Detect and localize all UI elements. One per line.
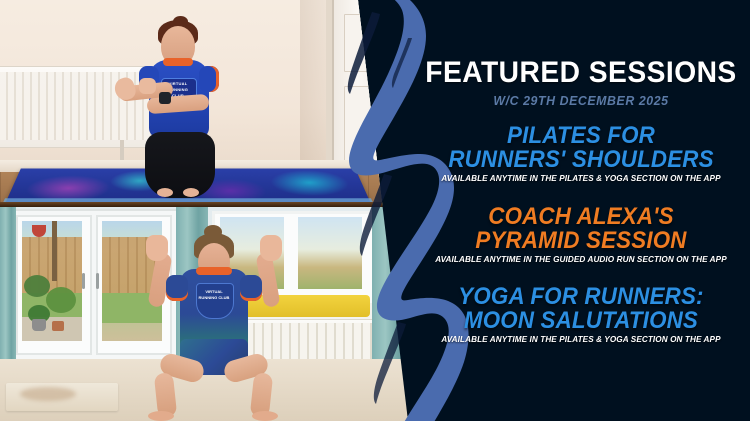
door-glass-left xyxy=(22,221,82,341)
hanging-basket xyxy=(32,225,46,237)
hand-open-right xyxy=(260,235,282,261)
door-handle-right[interactable] xyxy=(96,273,99,289)
session-3-title: YOGA FOR RUNNERS: MOON SALUTATIONS xyxy=(424,285,738,333)
session-1-subtitle: AVAILABLE ANYTIME IN THE PILATES & YOGA … xyxy=(419,173,743,183)
session-1-title-line1: PILATES FOR xyxy=(424,124,738,148)
session-2-title-line2: PYRAMID SESSION xyxy=(424,229,738,253)
session-3-subtitle: AVAILABLE ANYTIME IN THE PILATES & YOGA … xyxy=(419,334,743,344)
foot-left xyxy=(148,411,174,421)
photo-collage: VIRTUAL RUNNING CLUB xyxy=(0,0,410,421)
radiator-pipe xyxy=(120,140,124,162)
curtain-left xyxy=(0,207,16,367)
door-panel-lower xyxy=(344,86,390,168)
sleeve-right xyxy=(240,275,262,301)
session-2-subtitle: AVAILABLE ANYTIME IN THE GUIDED AUDIO RU… xyxy=(419,254,743,264)
hand-open-left xyxy=(146,235,168,261)
sleeve-right xyxy=(199,66,219,92)
shirt-collar xyxy=(196,267,232,275)
garden-shrub xyxy=(24,275,50,297)
door-handle-left[interactable] xyxy=(82,273,85,289)
photo-bottom-goddess-squat: VIRTUAL RUNNING CLUB xyxy=(0,207,410,421)
door-panel-upper xyxy=(344,14,390,72)
session-2-title: COACH ALEXA'S PYRAMID SESSION xyxy=(424,205,738,253)
window-pane-right xyxy=(298,217,362,289)
door-mat-pattern xyxy=(20,387,76,401)
page-title: FEATURED SESSIONS xyxy=(422,58,740,88)
featured-sessions-poster: VIRTUAL RUNNING CLUB xyxy=(0,0,750,421)
curtain-right xyxy=(372,207,410,367)
session-item-3[interactable]: YOGA FOR RUNNERS: MOON SALUTATIONS AVAIL… xyxy=(412,285,750,344)
session-1-title-line2: RUNNERS' SHOULDERS xyxy=(424,148,738,172)
instructor-figure-bottom: VIRTUAL RUNNING CLUB xyxy=(140,221,290,421)
shirt-collar xyxy=(163,58,193,66)
foot-right xyxy=(252,411,278,421)
session-item-1[interactable]: PILATES FOR RUNNERS' SHOULDERS AVAILABLE… xyxy=(412,124,750,183)
legs-kneeling xyxy=(145,132,215,198)
foot-right xyxy=(183,188,199,197)
foot-left xyxy=(157,188,173,197)
garden-shrub xyxy=(46,287,76,313)
plant-pot xyxy=(32,319,46,331)
fist-right xyxy=(139,78,156,94)
wrist-watch xyxy=(159,92,171,104)
session-3-title-line1: YOGA FOR RUNNERS: xyxy=(424,285,738,309)
session-item-2[interactable]: COACH ALEXA'S PYRAMID SESSION AVAILABLE … xyxy=(412,205,750,264)
week-commencing-date: W/C 29TH DECEMBER 2025 xyxy=(420,93,741,108)
sleeve-left xyxy=(166,275,188,301)
instructor-figure-top: VIRTUAL RUNNING CLUB xyxy=(125,20,235,190)
brush-stroke-texture-4 xyxy=(392,38,412,88)
text-panel: FEATURED SESSIONS W/C 29TH DECEMBER 2025… xyxy=(412,0,750,421)
session-3-title-line2: MOON SALUTATIONS xyxy=(424,309,738,333)
shirt-logo-text: VIRTUAL RUNNING CLUB xyxy=(197,289,231,301)
photo-top-pilates-shoulder-stretch: VIRTUAL RUNNING CLUB xyxy=(0,0,410,206)
session-1-title: PILATES FOR RUNNERS' SHOULDERS xyxy=(424,124,738,172)
plant-pot xyxy=(52,321,64,331)
garden-tree xyxy=(52,221,57,281)
session-2-title-line1: COACH ALEXA'S xyxy=(424,205,738,229)
